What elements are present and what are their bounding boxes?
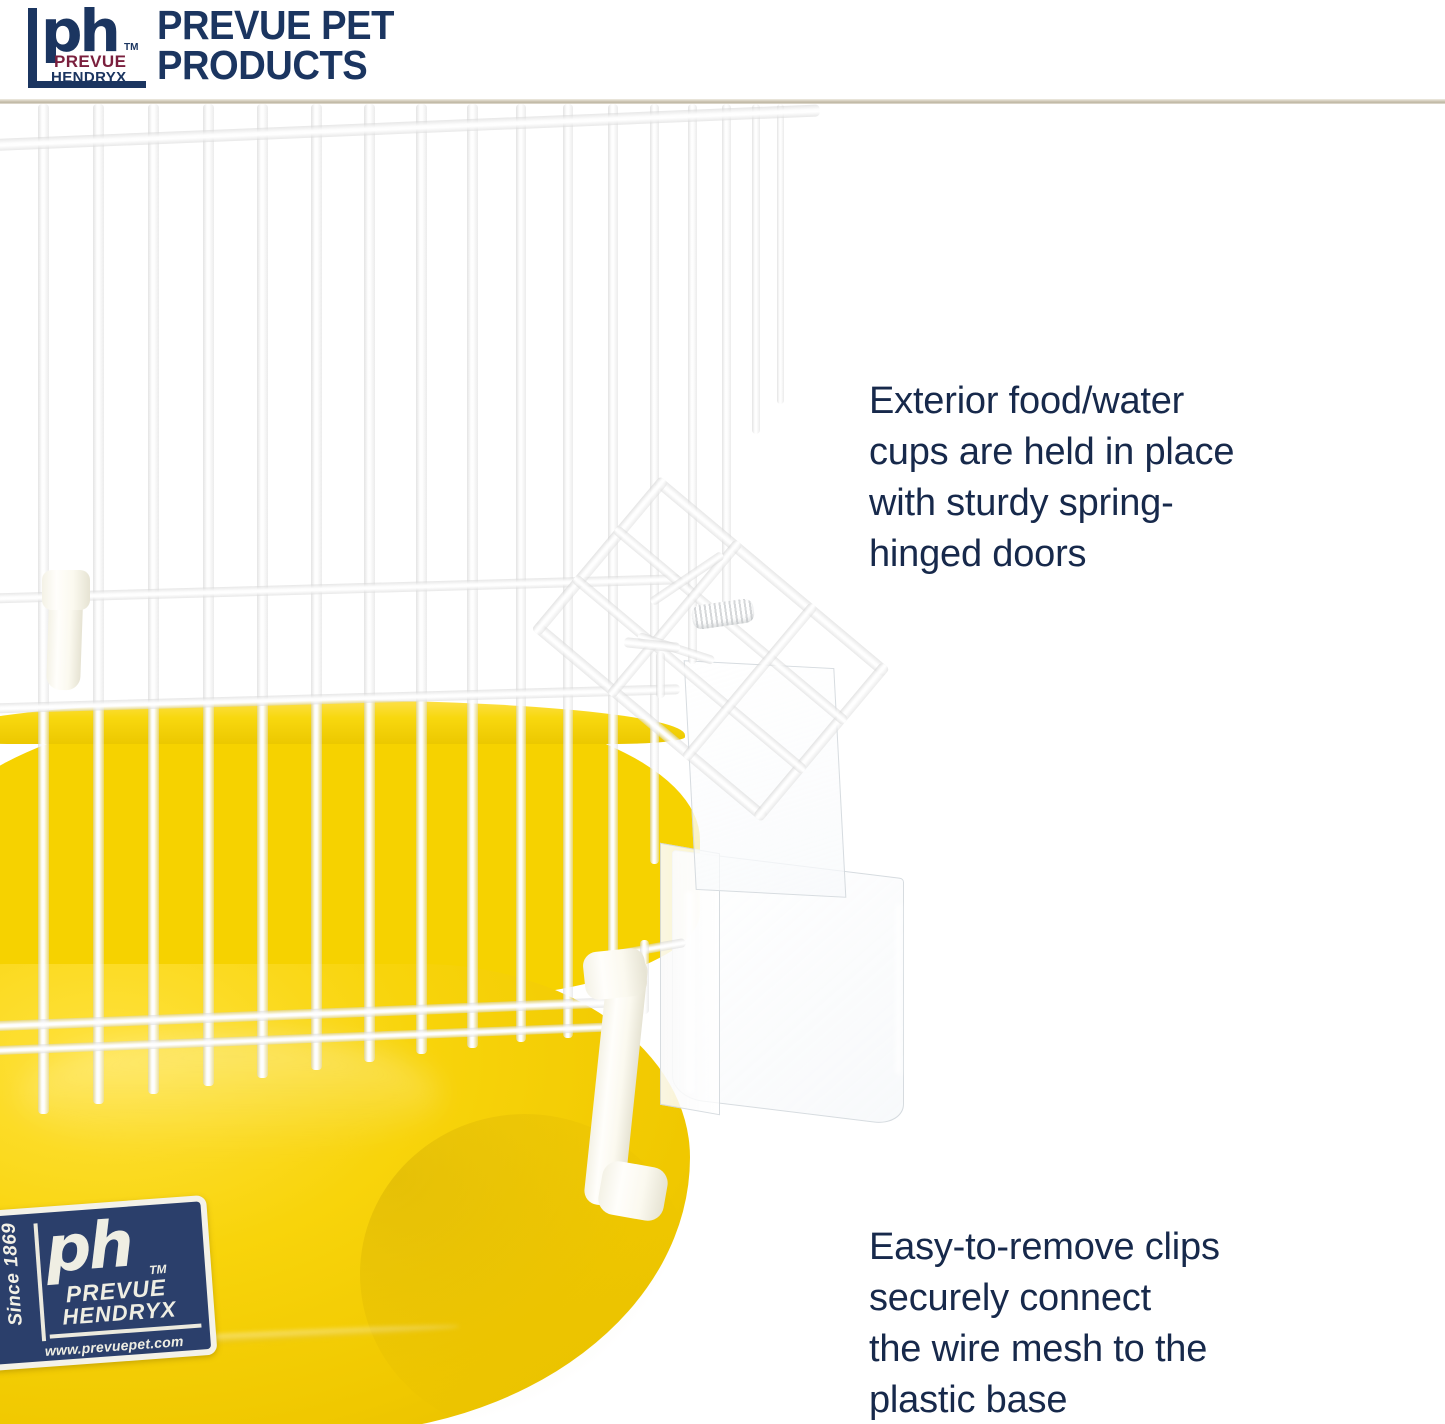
feature-caption-food-water-cups: Exterior food/water cups are held in pla…	[869, 376, 1389, 580]
product-sticker-label: Since 1869 ph TM PREVUE HENDRYX www.prev…	[0, 1195, 218, 1371]
logo-trademark-icon: TM	[124, 42, 138, 53]
cage-wire-vertical	[93, 104, 104, 1104]
cage-wire-vertical	[516, 104, 526, 1042]
prevue-hendryx-logo: ph TM PREVUE HENDRYX	[28, 8, 146, 88]
mesh-to-base-clip-head	[582, 947, 649, 1001]
logo-brand-top-text: PREVUE	[54, 53, 126, 70]
spring-hinged-door-frame	[531, 476, 889, 822]
sticker-since-text: Since 1869	[0, 1222, 28, 1327]
cage-wire-vertical	[752, 104, 760, 434]
product-photograph: Since 1869 ph TM PREVUE HENDRYX www.prev…	[0, 104, 1445, 1424]
page-title: PREVUE PET PRODUCTS	[157, 5, 808, 85]
sticker-brand-bottom-text: HENDRYX	[62, 1298, 177, 1328]
cage-wire-vertical	[416, 104, 427, 1054]
logo-brand-bottom-text: HENDRYX	[51, 70, 127, 85]
page-title-line-1: PREVUE PET	[157, 5, 808, 45]
cage-wire-vertical	[563, 104, 573, 1038]
door-latch-post	[656, 652, 665, 698]
sticker-monogram-text: ph	[43, 1213, 133, 1283]
brand-header: ph TM PREVUE HENDRYX PREVUE PET PRODUCTS	[0, 0, 1445, 104]
cage-wire-vertical	[777, 104, 784, 404]
product-feature-image: ph TM PREVUE HENDRYX PREVUE PET PRODUCTS	[0, 0, 1445, 1424]
page-title-line-2: PRODUCTS	[157, 45, 808, 85]
feature-caption-easy-remove-clips: Easy-to-remove clips securely connect th…	[869, 1222, 1389, 1424]
cage-wire-vertical	[467, 104, 478, 1048]
mesh-to-base-clip-head	[42, 570, 90, 610]
